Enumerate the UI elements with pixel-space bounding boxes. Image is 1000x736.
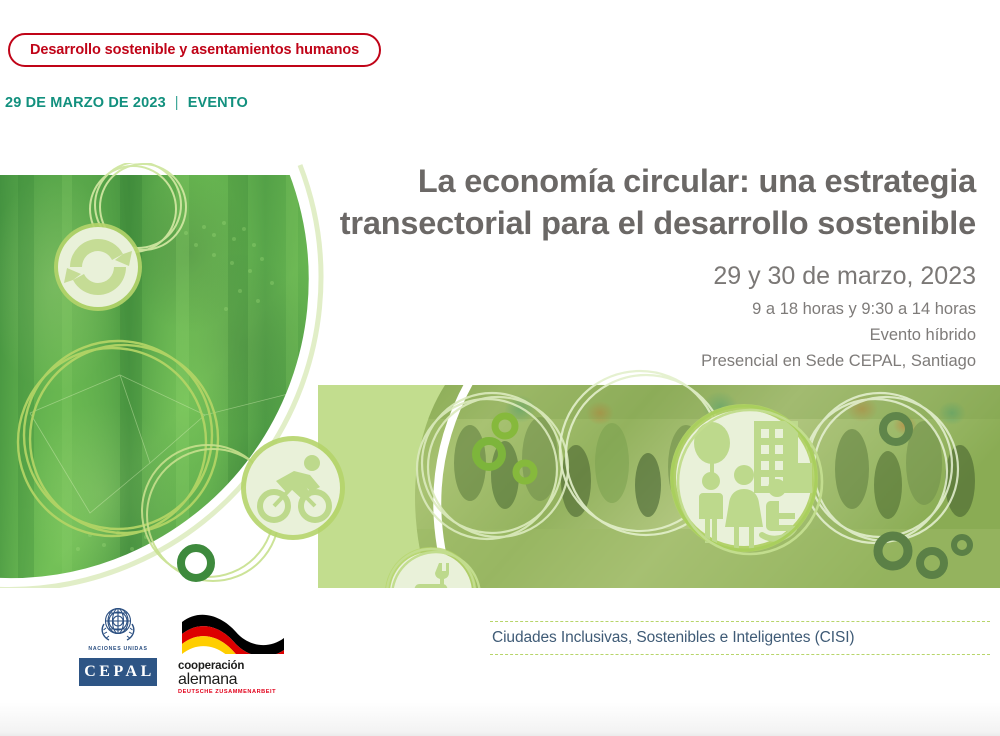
cyclist-icon [241,436,345,540]
un-emblem-icon [95,602,141,644]
cisi-label: Ciudades Inclusivas, Sostenibles e Intel… [490,622,990,654]
topic-badge[interactable]: Desarrollo sostenible y asentamientos hu… [8,33,381,67]
bottom-fade [0,702,1000,736]
event-announcement-page: Desarrollo sostenible y asentamientos hu… [0,0,1000,736]
cisi-rule-bottom [490,654,990,655]
giz-line3: DEUTSCHE ZUSAMMENARBEIT [178,690,290,696]
topic-badge-label: Desarrollo sostenible y asentamientos hu… [30,42,359,58]
hero-illustration [0,163,1000,588]
un-cepal-logo[interactable]: NACIONES UNIDAS CEPAL [76,602,160,686]
cepal-logo-label: CEPAL [81,663,155,681]
cepal-logo-box[interactable]: CEPAL [79,658,157,686]
event-date-kicker: 29 DE MARZO DE 2023 [5,95,166,111]
footer: NACIONES UNIDAS CEPAL cooperación aleman… [0,588,1000,736]
kicker: 29 DE MARZO DE 2023 | EVENTO [5,95,248,111]
recycle-icon [54,223,142,311]
footer-logos: NACIONES UNIDAS CEPAL cooperación aleman… [76,602,290,695]
hero-banner [0,163,1000,588]
german-cooperation-logo[interactable]: cooperación alemana DEUTSCHE ZUSAMMENARB… [178,602,290,695]
cisi-banner: Ciudades Inclusivas, Sostenibles e Intel… [490,621,990,655]
giz-line2: alemana [178,672,290,688]
kicker-separator: | [175,95,179,111]
event-type-kicker: EVENTO [188,95,248,111]
german-flag-swoosh-icon [178,610,290,654]
un-logo-caption: NACIONES UNIDAS [88,646,147,652]
german-cooperation-text: cooperación alemana DEUTSCHE ZUSAMMENARB… [178,661,290,695]
